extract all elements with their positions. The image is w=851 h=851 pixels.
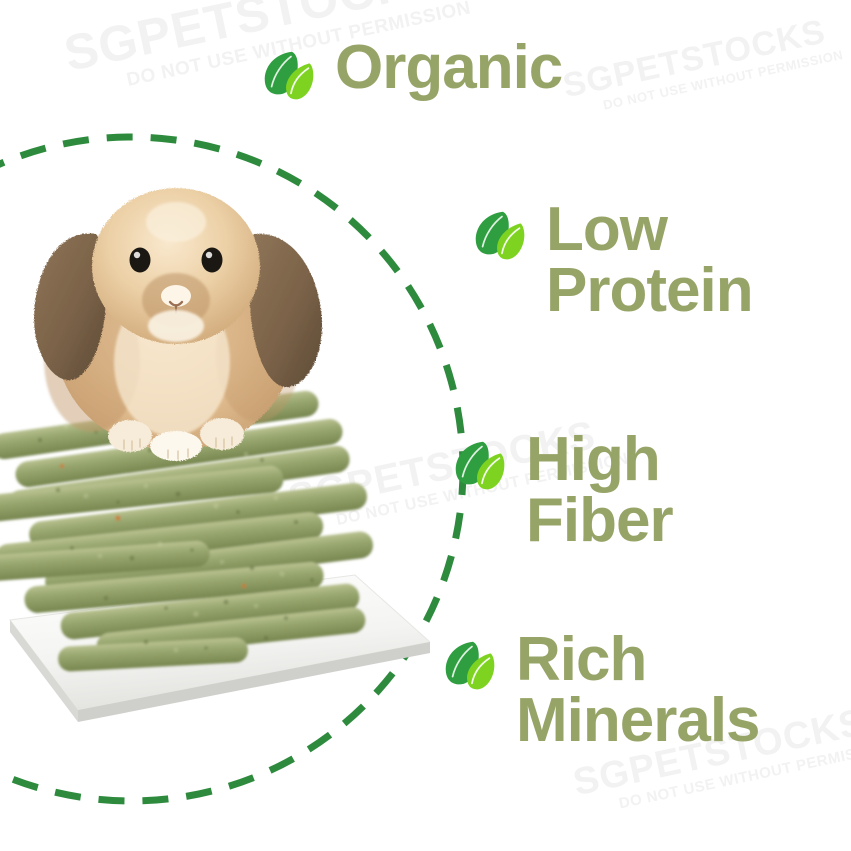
feature-label-low-protein: Low Protein	[546, 200, 753, 322]
feature-item-organic: Organic	[259, 38, 562, 111]
feature-label-organic: Organic	[335, 38, 562, 99]
leaf-icon	[440, 634, 502, 701]
leaf-icon	[470, 204, 532, 271]
leaf-icon	[259, 44, 321, 111]
feature-label-high-fiber: High Fiber	[526, 430, 673, 552]
hero-image-region	[0, 0, 470, 851]
feature-label-rich-minerals: Rich Minerals	[516, 630, 760, 752]
leaf-icon	[450, 434, 512, 501]
feature-list: Organic Low Protein	[430, 0, 851, 851]
feature-item-high-fiber: High Fiber	[450, 430, 673, 552]
infographic-canvas: SGPETSTOCKS DO NOT USE WITHOUT PERMISSIO…	[0, 0, 851, 851]
feature-item-rich-minerals: Rich Minerals	[440, 630, 760, 752]
feature-item-low-protein: Low Protein	[470, 200, 753, 322]
rabbit-and-hay-sticks-photo	[0, 150, 430, 790]
